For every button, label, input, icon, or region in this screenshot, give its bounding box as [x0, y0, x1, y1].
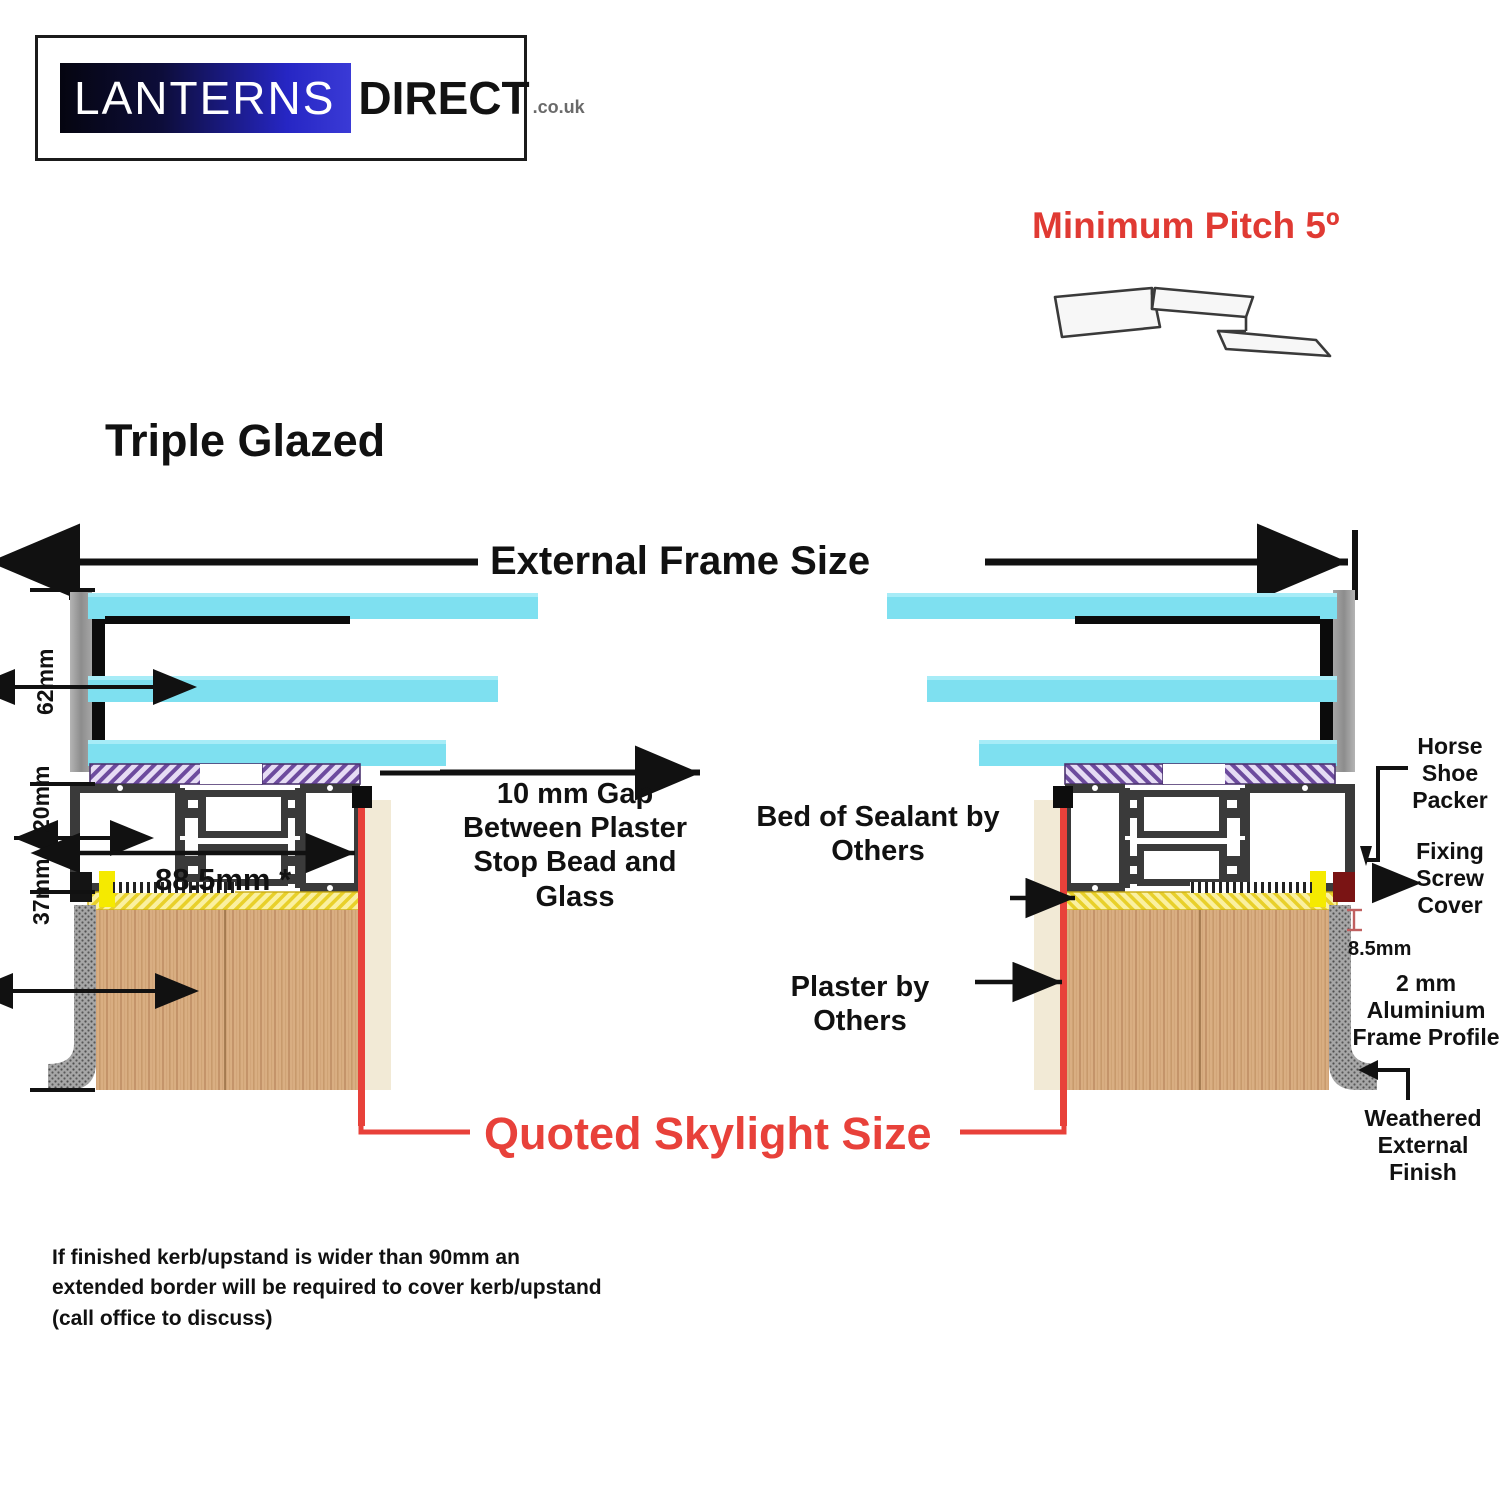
dimension-finish-thickness: 8.5mm: [1348, 938, 1411, 961]
callout-plaster: Plaster by Others: [760, 970, 960, 1038]
callout-gap: 10 mm Gap Between Plaster Stop Bead and …: [440, 777, 710, 914]
callout-horse-shoe-packer: Horse Shoe Packer: [1398, 733, 1500, 814]
dimension-frame-height: 20mm: [28, 766, 55, 832]
minimum-pitch-sketch: [1055, 288, 1330, 356]
dimension-glass-height: 62mm: [32, 649, 59, 715]
callout-aluminium-frame-profile: 2 mm Aluminium Frame Profile: [1352, 970, 1500, 1051]
external-frame-size-label: External Frame Size: [478, 539, 882, 584]
callout-weathered-external-finish: Weathered External Finish: [1348, 1105, 1498, 1186]
callout-fixing-screw-cover: Fixing Screw Cover: [1398, 838, 1500, 919]
callout-sealant: Bed of Sealant by Others: [748, 800, 1008, 868]
quoted-skylight-size-label: Quoted Skylight Size: [470, 1108, 946, 1160]
kerb-width-footnote: If finished kerb/upstand is wider than 9…: [52, 1243, 612, 1334]
dimension-kerb-width: 88.5mm *: [155, 862, 291, 898]
dimension-kerb-height: 37mm: [28, 859, 55, 925]
